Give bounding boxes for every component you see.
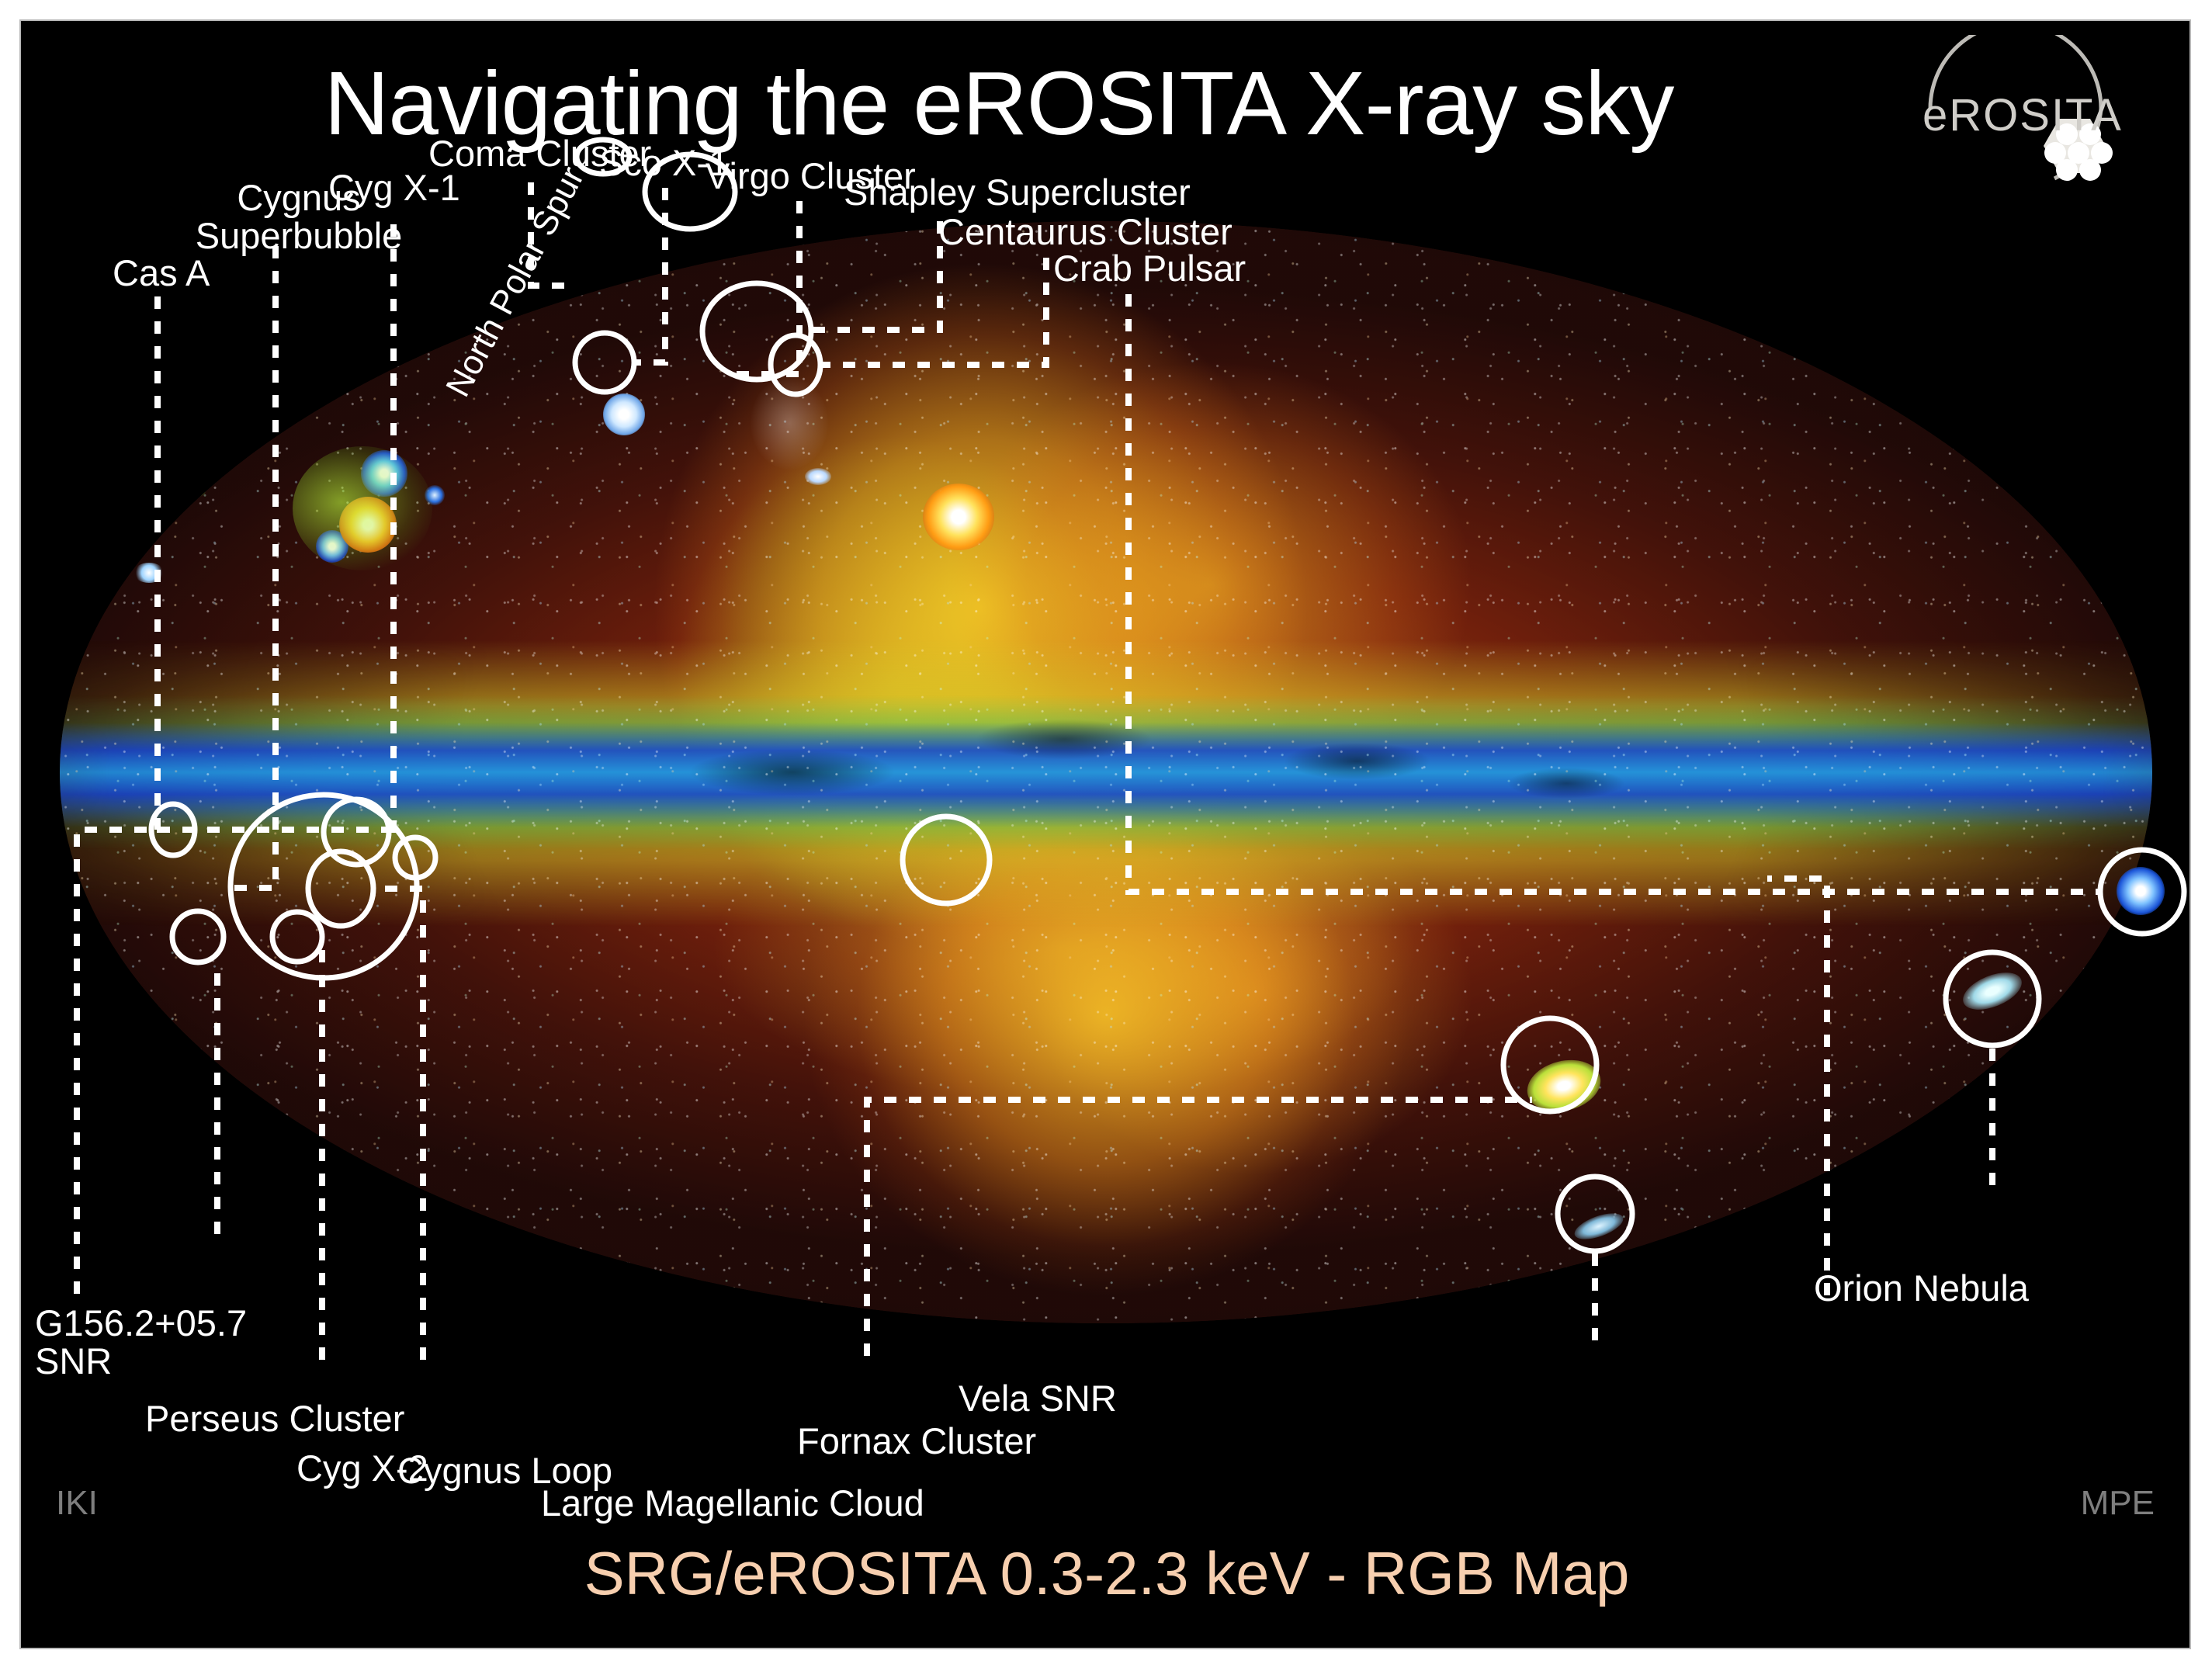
label-crab-pulsar: Crab Pulsar (1053, 249, 1246, 287)
label-centaurus-cluster: Centaurus Cluster (938, 213, 1233, 251)
credit-iki: IKI (56, 1484, 98, 1523)
label-large-magellanic-cloud: Large Magellanic Cloud (541, 1484, 924, 1522)
source-centaurus-cluster (805, 468, 831, 485)
label-g156-snr: G156.2+05.7 SNR (35, 1304, 247, 1381)
source-g156-snr (184, 466, 207, 500)
label-cas-a: Cas A (113, 254, 210, 292)
source-vela-snr (923, 484, 994, 550)
erosita-logo-text: eROSITA (1922, 89, 2123, 141)
label-shapley-supercluster: Shapley Supercluster (844, 173, 1191, 211)
erosita-logo: eROSITA (1907, 35, 2140, 190)
all-sky-map (60, 221, 2152, 1323)
page-title: Navigating the eROSITA X-ray sky (21, 58, 1977, 148)
poster-panel: Navigating the eROSITA X-ray sky eROSITA (19, 19, 2191, 1649)
label-orion-nebula: Orion Nebula (1814, 1269, 2029, 1307)
label-vela-snr: Vela SNR (959, 1379, 1117, 1417)
label-cyg-x-1: Cyg X-1 (328, 168, 460, 206)
label-perseus-cluster: Perseus Cluster (145, 1399, 404, 1437)
map-caption: SRG/eROSITA 0.3-2.3 keV - RGB Map (21, 1538, 2191, 1609)
source-shapley-supercluster (751, 376, 828, 470)
source-sco-x-1 (603, 393, 645, 435)
label-fornax-cluster: Fornax Cluster (797, 1422, 1036, 1460)
source-crab-pulsar-blob (2117, 867, 2165, 915)
source-perseus (133, 563, 165, 583)
credit-mpe: MPE (2081, 1484, 2155, 1523)
source-cygnus-superbubble (293, 446, 432, 570)
